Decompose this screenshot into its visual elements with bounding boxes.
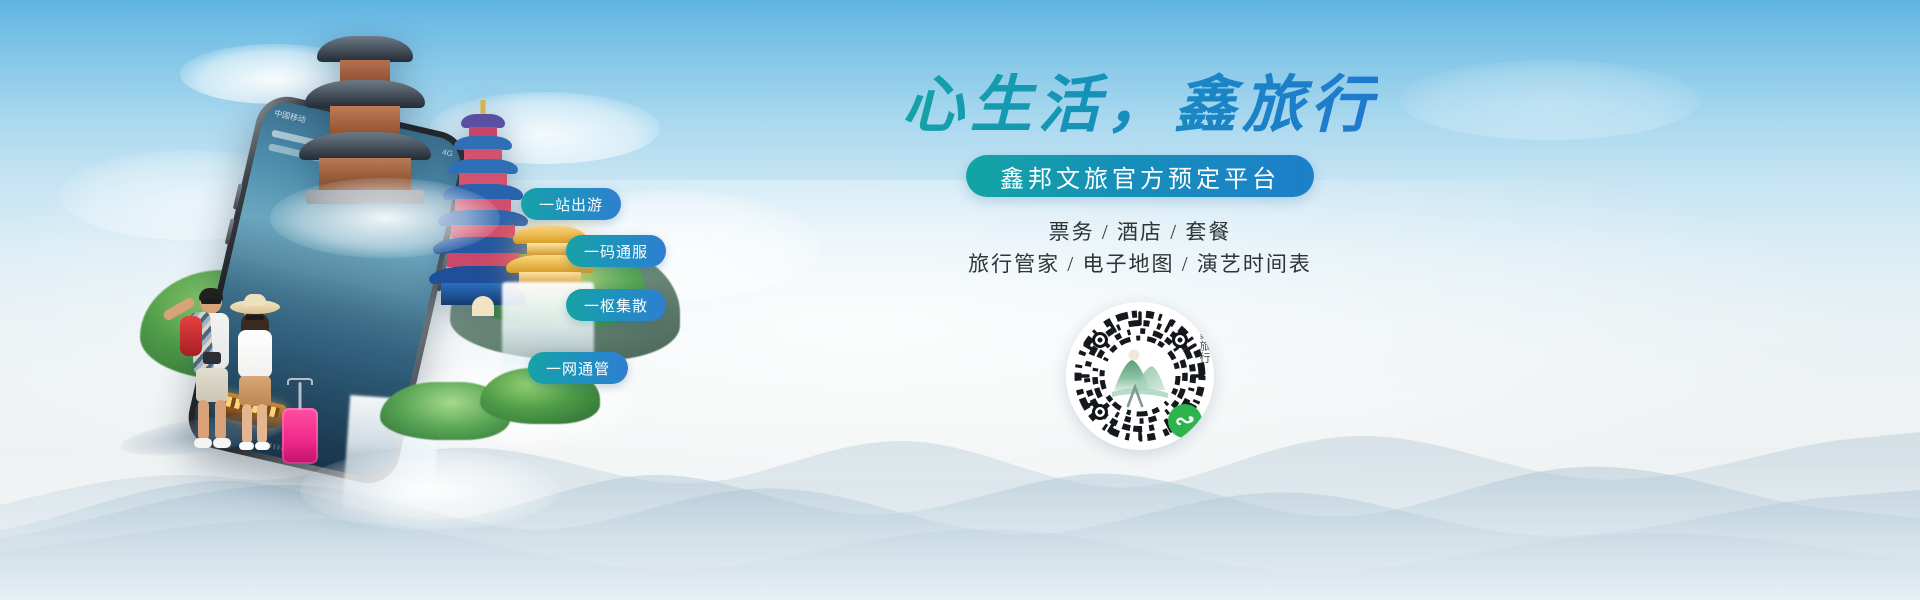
- page-title: 心生活，鑫旅行: [902, 70, 1378, 149]
- tower-base: [319, 158, 411, 192]
- feature-pill-2[interactable]: 一枢集散: [566, 289, 666, 321]
- pagoda-arch-gate: [472, 296, 494, 316]
- female-shoe-left: [239, 442, 254, 450]
- pagoda-roof-3: [448, 159, 518, 174]
- wechat-miniprogram-qr-code[interactable]: 鑫旅行: [1066, 302, 1214, 450]
- tower-roof-top: [317, 36, 413, 62]
- tower-roof-low: [299, 132, 431, 160]
- female-traveller: [226, 298, 284, 456]
- promo-banner: 中国移动 4G: [0, 0, 1920, 600]
- right-content: 心生活，鑫旅行 鑫邦文旅官方预定平台 票务 / 酒店 / 套餐 旅行管家 / 电…: [860, 70, 1420, 450]
- qr-brand-text: 鑫旅行: [1197, 328, 1210, 364]
- service-line-1: 票务 / 酒店 / 套餐: [968, 217, 1312, 249]
- ancient-tower-landmark: [300, 30, 430, 210]
- female-shorts: [239, 376, 271, 406]
- cloud-5: [1400, 60, 1700, 140]
- tower-roof-mid: [305, 80, 425, 108]
- service-line-2: 旅行管家 / 电子地图 / 演艺时间表: [968, 249, 1312, 281]
- mountain-logo-icon: [1104, 340, 1176, 412]
- feature-pill-1[interactable]: 一码通服: [566, 235, 666, 267]
- feature-pill-3[interactable]: 一网通管: [528, 352, 628, 384]
- male-backpack: [180, 316, 202, 356]
- wechat-miniprogram-icon: [1168, 404, 1202, 438]
- pagoda-roof-5: [438, 210, 528, 226]
- female-sunglasses-icon: [245, 315, 264, 320]
- pagoda-roof-4: [443, 184, 523, 200]
- feature-pill-0[interactable]: 一站出游: [521, 188, 621, 220]
- male-camera-icon: [203, 352, 221, 364]
- female-shoe-right: [255, 442, 270, 450]
- traveller-couple: [160, 270, 320, 470]
- tower-platform: [306, 190, 424, 204]
- sun-hat-crown: [244, 294, 266, 306]
- pink-suitcase: [282, 408, 318, 464]
- phone-scenery-composite: 中国移动 4G: [150, 30, 630, 490]
- pagoda-roof-1: [461, 114, 505, 128]
- male-shoe-left: [194, 438, 212, 448]
- female-leg-left: [242, 404, 252, 444]
- platform-badge: 鑫邦文旅官方预定平台: [966, 155, 1314, 197]
- male-sunglasses-icon: [201, 299, 221, 304]
- male-leg-right: [215, 400, 226, 440]
- male-leg-left: [198, 400, 209, 440]
- female-leg-right: [257, 404, 267, 444]
- female-blouse: [238, 330, 272, 378]
- pagoda-roof-2: [454, 136, 512, 150]
- service-description: 票务 / 酒店 / 套餐 旅行管家 / 电子地图 / 演艺时间表: [968, 217, 1312, 280]
- qr-center-logo: [1104, 340, 1176, 412]
- miniprogram-glyph: [1173, 409, 1197, 433]
- male-shorts: [196, 368, 228, 402]
